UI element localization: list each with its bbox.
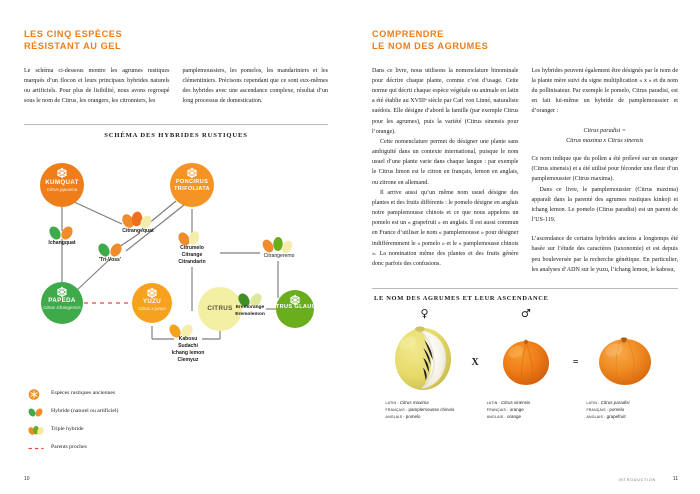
diagram-section: SCHÉMA DES HYBRIDES RUSTIQUES bbox=[24, 124, 328, 452]
ancestry-item-result: · bbox=[582, 308, 668, 421]
legend-row-close-parents: Parents proches bbox=[28, 441, 328, 452]
caption-result-en-row: ANGLAIS : grapefruit bbox=[586, 414, 668, 421]
caption-mother-fr-row: FRANÇAIS : pamplemousse chinois bbox=[386, 407, 468, 414]
ancestry-cross-row: ♀ bbox=[372, 308, 678, 421]
caption-value-en-1: orange bbox=[507, 414, 521, 419]
right-page-title: COMPRENDRE LE NOM DES AGRUMES bbox=[372, 28, 678, 53]
left-intro-columns: Le schéma ci-dessous montre les agrumes … bbox=[24, 66, 328, 107]
caption-mother: LATIN : Citrus maxima FRANÇAIS : pamplem… bbox=[382, 400, 468, 421]
grapefruit-illustration bbox=[582, 321, 668, 395]
right-col2-paragraph-3: Dans ce livre, le pamplemoussier (Citrus… bbox=[532, 185, 679, 226]
left-page-title: LES CINQ ESPÈCES RÉSISTANT AU GEL bbox=[24, 28, 328, 53]
caption-value-latin-1: Citrus sinensis bbox=[501, 400, 530, 405]
diagram-title: SCHÉMA DES HYBRIDES RUSTIQUES bbox=[24, 132, 328, 139]
dashed-line-icon bbox=[28, 441, 44, 452]
hybrid-glyph-trivoss bbox=[96, 242, 124, 259]
equals-operator: = bbox=[573, 357, 579, 372]
orange-illustration bbox=[483, 321, 569, 395]
pomelo-half-illustration bbox=[382, 321, 468, 395]
hybrid-label-trivoss: ’Tri-Voss’ bbox=[80, 257, 140, 264]
hybrid-label-citrangequat: Citrangequat bbox=[108, 228, 168, 235]
formula-line-2: Citrus maxima x Citrus sinensis bbox=[532, 136, 679, 146]
right-col2-paragraph-1: Les hybrides peuvent également être dési… bbox=[532, 66, 679, 117]
ancestry-top-rule bbox=[372, 288, 678, 289]
legend-label-hybrid: Hybride (naturel ou artificiel) bbox=[51, 408, 118, 414]
caption-father-latin-row: LATIN : Citrus sinensis bbox=[487, 400, 569, 407]
diagram-top-rule bbox=[24, 124, 328, 125]
caption-key-en-1: ANGLAIS : bbox=[487, 415, 506, 419]
book-spread: LES CINQ ESPÈCES RÉSISTANT AU GEL Le sch… bbox=[0, 0, 700, 494]
hybrid-formula: Citrus paradisi = Citrus maxima x Citrus… bbox=[532, 126, 679, 147]
right-col1-paragraph-2: Cette nomenclature permet de désigner un… bbox=[372, 137, 519, 188]
caption-result-fr-row: FRANÇAIS : pomelo bbox=[586, 407, 668, 414]
right-col2-paragraph-2: Ce nom indique que du pollen a été préle… bbox=[532, 154, 679, 184]
caption-value-fr-0: pamplemousse chinois bbox=[408, 407, 454, 412]
three-petals-icon bbox=[28, 423, 44, 434]
caption-value-fr-2: pomelo bbox=[609, 407, 624, 412]
hybrid-glyph-ichangquat bbox=[47, 225, 75, 242]
hybrid-label-citrangeremo: Citrangeremo bbox=[248, 253, 310, 260]
caption-key-en-0: ANGLAIS : bbox=[386, 415, 405, 419]
caption-father-en-row: ANGLAIS : orange bbox=[487, 414, 569, 421]
left-title-line-2: RÉSISTANT AU GEL bbox=[24, 41, 121, 51]
ancestry-item-mother: ♀ bbox=[382, 308, 468, 421]
caption-mother-latin-row: LATIN : Citrus maxima bbox=[386, 400, 468, 407]
hybrid-label-citrumelo-group: Citrumelo Citrange Citrandarin bbox=[159, 245, 225, 265]
legend-label-close-parents: Parents proches bbox=[51, 444, 87, 450]
caption-key-latin-0: LATIN : bbox=[386, 401, 399, 405]
right-title-line-1: COMPRENDRE bbox=[372, 29, 444, 39]
caption-key-en-2: ANGLAIS : bbox=[586, 415, 605, 419]
right-page: COMPRENDRE LE NOM DES AGRUMES Dans ce li… bbox=[350, 0, 700, 494]
caption-key-latin-1: LATIN : bbox=[487, 401, 500, 405]
caption-key-fr-2: FRANÇAIS : bbox=[586, 408, 608, 412]
caption-key-fr-0: FRANÇAIS : bbox=[386, 408, 408, 412]
caption-value-en-2: grapefruit bbox=[607, 414, 626, 419]
right-col-2: Les hybrides peuvent également être dési… bbox=[532, 66, 679, 275]
diagram-connectors bbox=[62, 201, 278, 339]
left-title-line-1: LES CINQ ESPÈCES bbox=[24, 29, 122, 39]
female-symbol-icon: ♀ bbox=[382, 308, 468, 321]
left-intro-col-2: pamplemoussiers, les pomelos, les mandar… bbox=[183, 66, 329, 107]
caption-value-latin-0: Citrus maxima bbox=[400, 400, 429, 405]
hybrid-schema-diagram: KUMQUAT Citrus japonica PONCIRUS TRIFOLI… bbox=[24, 143, 328, 373]
two-petals-icon bbox=[28, 405, 44, 416]
caption-key-fr-1: FRANÇAIS : bbox=[487, 408, 509, 412]
caption-value-fr-1: orange bbox=[510, 407, 524, 412]
page-number-right: 11 bbox=[673, 476, 678, 482]
page-number-left: 10 bbox=[24, 476, 30, 482]
male-symbol-icon: ♂ bbox=[483, 308, 569, 321]
left-intro-paragraph-1: Le schéma ci-dessous montre les agrumes … bbox=[24, 66, 170, 107]
ancestry-item-father: ♂ bbox=[483, 308, 569, 421]
right-text-columns: Dans ce livre, nous utilisons la nomencl… bbox=[372, 66, 678, 275]
caption-value-latin-2: Citrus paradisi bbox=[601, 400, 630, 405]
caption-result-latin-row: LATIN : Citrus paradisi bbox=[586, 400, 668, 407]
right-col2-paragraph-4: L’ascendance de certains hybrides ancien… bbox=[532, 234, 679, 275]
caption-value-en-0: pomelo bbox=[406, 414, 421, 419]
hybrid-label-kabosu-group: Kabosu Sudachi Ichang lemon Clemyuz bbox=[150, 336, 226, 363]
right-col1-paragraph-1: Dans ce livre, nous utilisons la nomencl… bbox=[372, 66, 519, 137]
legend-row-hybrid: Hybride (naturel ou artificiel) bbox=[28, 405, 328, 416]
right-col-1: Dans ce livre, nous utilisons la nomencl… bbox=[372, 66, 519, 275]
legend-row-triple-hybrid: Triple hybride bbox=[28, 423, 328, 434]
left-page: LES CINQ ESPÈCES RÉSISTANT AU GEL Le sch… bbox=[0, 0, 350, 494]
legend-label-triple-hybrid: Triple hybride bbox=[51, 426, 84, 432]
ancestry-section-title: LE NOM DES AGRUMES ET LEUR ASCENDANCE bbox=[374, 295, 678, 302]
legend-row-ancient-species: Espèces rustiques anciennes bbox=[28, 387, 328, 398]
right-title-line-2: LE NOM DES AGRUMES bbox=[372, 41, 488, 51]
multiply-operator: X bbox=[472, 357, 479, 372]
diagram-legend: Espèces rustiques anciennes Hybride (nat… bbox=[24, 387, 328, 452]
caption-father-fr-row: FRANÇAIS : orange bbox=[487, 407, 569, 414]
caption-father: LATIN : Citrus sinensis FRANÇAIS : orang… bbox=[483, 400, 569, 421]
left-intro-col-1: Le schéma ci-dessous montre les agrumes … bbox=[24, 66, 170, 107]
hybrid-label-ichangquat: Ichangquat bbox=[32, 240, 92, 247]
caption-result: LATIN : Citrus paradisi FRANÇAIS : pomel… bbox=[582, 400, 668, 421]
hybrid-label-eremorange-group: Eremorange Eremolemon bbox=[222, 305, 278, 318]
caption-mother-en-row: ANGLAIS : pomelo bbox=[386, 414, 468, 421]
caption-key-latin-2: LATIN : bbox=[586, 401, 599, 405]
running-head: INTRODUCTION bbox=[618, 478, 656, 482]
legend-label-ancient-species: Espèces rustiques anciennes bbox=[51, 390, 115, 396]
formula-line-1: Citrus paradisi = bbox=[532, 126, 679, 136]
left-intro-paragraph-2: pamplemoussiers, les pomelos, les mandar… bbox=[183, 66, 329, 107]
snowflake-circle-icon bbox=[28, 387, 44, 398]
right-col1-paragraph-3: Il arrive aussi qu’un même nom usuel dés… bbox=[372, 188, 519, 269]
